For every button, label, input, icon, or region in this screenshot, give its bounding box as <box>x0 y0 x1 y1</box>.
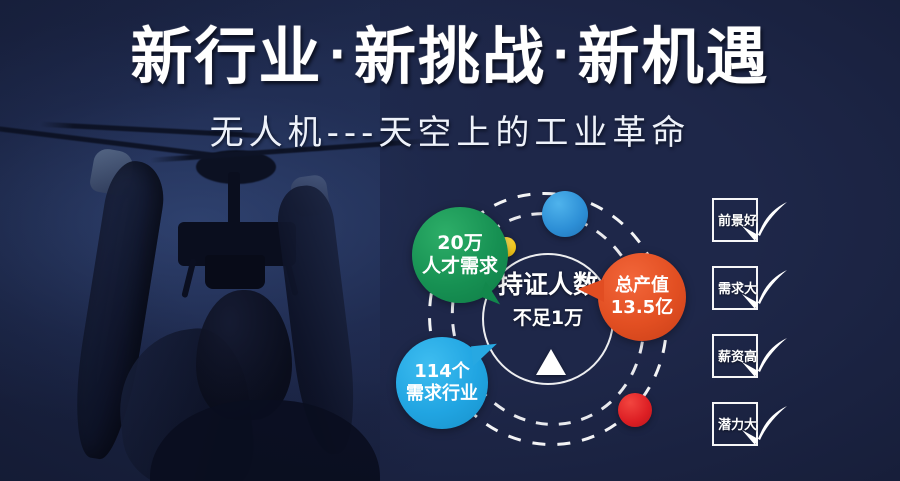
checklist-item-demand[interactable]: 需求大 <box>712 266 842 310</box>
bubble-line2: 13.5亿 <box>611 297 673 319</box>
red-node-icon <box>618 393 652 427</box>
triangle-up-icon <box>536 349 566 375</box>
title-part-2: 新挑战 <box>354 20 546 93</box>
bubble-line1: 114个 <box>414 361 470 383</box>
checkmark-icon <box>738 196 790 248</box>
page-title: 新行业·新挑战·新机遇 <box>0 22 900 91</box>
bubble-total-output-value[interactable]: 总产值 13.5亿 <box>598 253 686 341</box>
poster-root: 新行业·新挑战·新机遇 无人机---天空上的工业革命 持证人数 不足1万 20万… <box>0 0 900 481</box>
headline-block: 新行业·新挑战·新机遇 无人机---天空上的工业革命 <box>0 22 900 154</box>
page-subtitle: 无人机---天空上的工业革命 <box>0 105 900 154</box>
bubble-line2: 人才需求 <box>422 255 498 278</box>
checkmark-icon <box>738 400 790 452</box>
checklist-item-prospects[interactable]: 前景好 <box>712 198 842 242</box>
title-separator: · <box>546 27 577 81</box>
infographic-diagram: 持证人数 不足1万 20万 人才需求 总产值 13.5亿 114个 需求行业 <box>390 175 700 465</box>
blue-node-icon <box>542 191 588 237</box>
benefits-checklist: 前景好 需求大 薪资高 潜力大 <box>712 198 842 470</box>
checkmark-icon <box>738 332 790 384</box>
bubble-demand-industries[interactable]: 114个 需求行业 <box>396 337 488 429</box>
bubble-talent-demand[interactable]: 20万 人才需求 <box>412 207 508 303</box>
center-label-line2: 不足1万 <box>482 303 614 330</box>
title-part-1: 新行业 <box>130 20 322 93</box>
title-separator: · <box>323 27 354 81</box>
checklist-item-salary[interactable]: 薪资高 <box>712 334 842 378</box>
checkmark-icon <box>738 264 790 316</box>
bubble-line1: 20万 <box>437 232 482 255</box>
title-part-3: 新机遇 <box>577 20 769 93</box>
bubble-line2: 需求行业 <box>406 383 478 405</box>
bubble-line1: 总产值 <box>615 275 669 297</box>
checklist-item-potential[interactable]: 潜力大 <box>712 402 842 446</box>
